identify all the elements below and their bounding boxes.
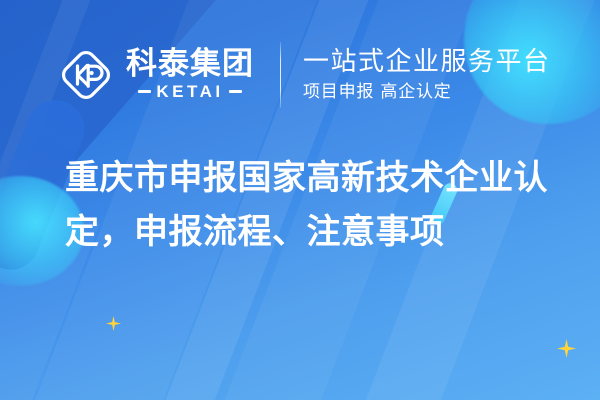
brand-name-en: KETAI	[156, 82, 223, 102]
promo-banner: 科泰集团 KETAI 一站式企业服务平台 项目申报 高企认定 重庆市申报国家高新…	[0, 0, 600, 400]
sparkle-icon	[557, 339, 576, 358]
brand-name-cn: 科泰集团	[126, 48, 254, 81]
vertical-divider-icon	[280, 42, 281, 108]
brand-logo: 科泰集团 KETAI	[57, 46, 254, 104]
sparkle-icon	[106, 316, 121, 331]
slogan-block: 一站式企业服务平台 项目申报 高企认定	[303, 47, 551, 104]
dash-rule-icon	[229, 90, 242, 93]
page-title-line-1: 重庆市申报国家高新技术企业认	[65, 152, 565, 206]
brand-name-en-row: KETAI	[138, 82, 241, 102]
ketai-diamond-kp-monogram-icon	[57, 46, 115, 104]
dash-rule-icon	[138, 90, 151, 93]
page-title: 重庆市申报国家高新技术企业认 定，申报流程、注意事项	[65, 152, 565, 259]
slogan-main-text: 一站式企业服务平台	[303, 47, 551, 78]
banner-header: 科泰集团 KETAI 一站式企业服务平台 项目申报 高企认定	[57, 37, 551, 113]
page-title-line-2: 定，申报流程、注意事项	[65, 206, 565, 260]
brand-wordmark: 科泰集团 KETAI	[126, 48, 254, 102]
slogan-sub-text: 项目申报 高企认定	[303, 81, 551, 103]
